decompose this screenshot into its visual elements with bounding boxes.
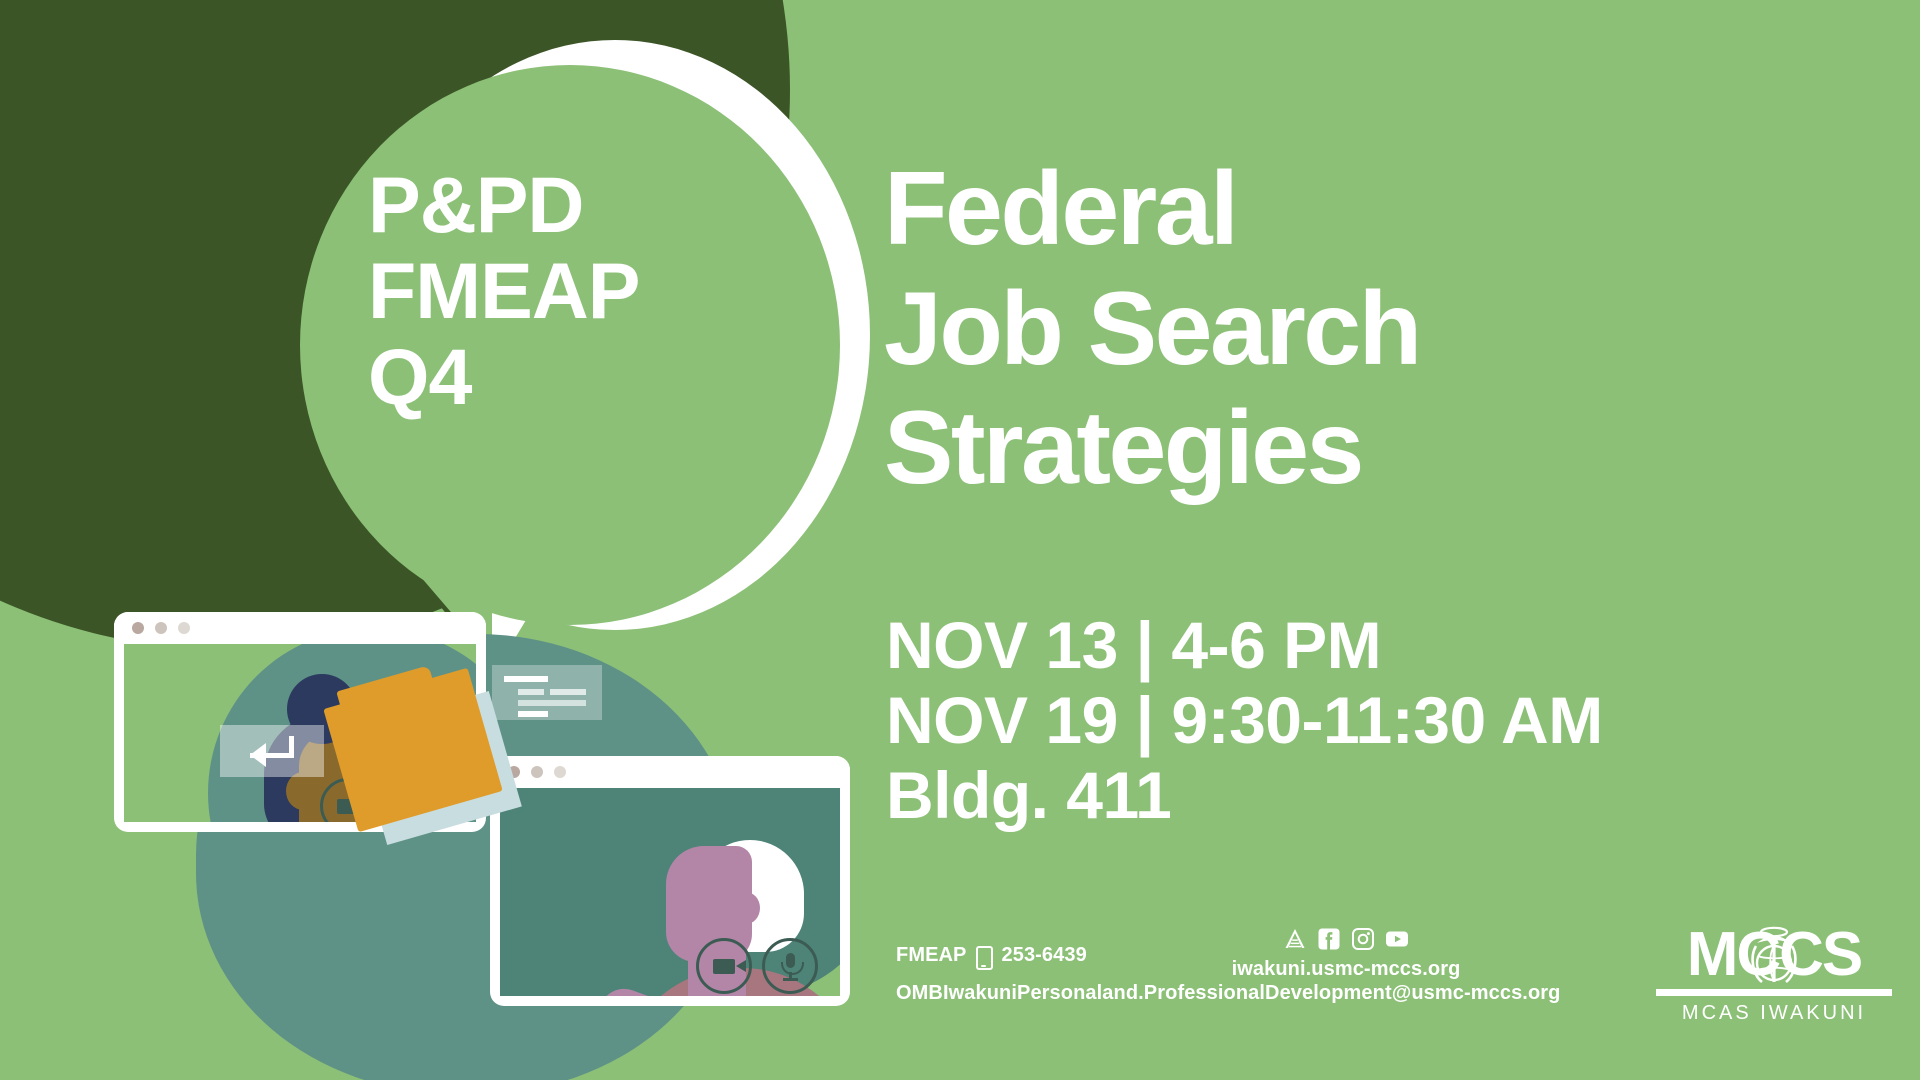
website-url[interactable]: iwakuni.usmc-mccs.org — [1166, 958, 1526, 981]
microphone-icon[interactable] — [762, 938, 818, 994]
page-title: Federal Job Search Strategies — [884, 150, 1884, 509]
badge-line-3: Q4 — [368, 334, 788, 420]
social-icon-row — [1166, 924, 1526, 954]
window-close-dot[interactable] — [132, 622, 144, 634]
event-details: NOV 13 | 4-6 PM NOV 19 | 9:30-11:30 AM B… — [886, 608, 1896, 834]
chat-message-card — [492, 665, 602, 720]
triangle-app-icon[interactable] — [1283, 927, 1307, 951]
location-line: Bldg. 411 — [886, 758, 1896, 833]
mccs-logo: MCCS MCAS IWAKUNI — [1656, 924, 1892, 1025]
promotional-flyer: P&PD FMEAP Q4 — [0, 0, 1920, 1080]
eagle-globe-anchor-icon — [1738, 922, 1810, 988]
web-block: iwakuni.usmc-mccs.org — [1166, 924, 1526, 981]
facebook-icon[interactable] — [1317, 927, 1341, 951]
window-minimize-dot[interactable] — [531, 766, 543, 778]
session-2-line: NOV 19 | 9:30-11:30 AM — [886, 683, 1896, 758]
participant-a-ear — [286, 772, 320, 810]
enter-arrow-glyph — [250, 736, 294, 766]
instagram-icon[interactable] — [1351, 927, 1375, 951]
program-label: FMEAP — [896, 936, 967, 974]
mobile-phone-icon — [976, 946, 993, 970]
youtube-icon[interactable] — [1385, 927, 1409, 951]
headline-line-3: Strategies — [884, 389, 1884, 509]
phone-number[interactable]: 253-6439 — [1002, 936, 1087, 974]
enter-key-icon[interactable] — [220, 725, 324, 777]
window-maximize-dot[interactable] — [554, 766, 566, 778]
session-1-line: NOV 13 | 4-6 PM — [886, 608, 1896, 683]
footer: FMEAP 253-6439 OMBIwakuniPersonaland.Pro… — [884, 918, 1920, 1048]
headline-line-1: Federal — [884, 150, 1884, 270]
window-titlebar-primary — [114, 612, 486, 644]
window-minimize-dot[interactable] — [155, 622, 167, 634]
video-conference-illustration — [0, 560, 880, 1080]
camera-glyph — [713, 959, 735, 974]
window-body-secondary — [500, 788, 840, 996]
headline-line-2: Job Search — [884, 270, 1884, 390]
participant-b-ear — [732, 892, 760, 924]
mccs-logo-subtitle: MCAS IWAKUNI — [1656, 1002, 1892, 1025]
microphone-glyph — [779, 953, 801, 979]
program-badge: P&PD FMEAP Q4 — [368, 162, 788, 420]
content-column: Federal Job Search Strategies NOV 13 | 4… — [884, 0, 1920, 1080]
mccs-logo-rule — [1656, 989, 1892, 996]
badge-line-2: FMEAP — [368, 248, 788, 334]
mccs-wordmark: MCCS — [1656, 924, 1892, 986]
window-titlebar-secondary — [490, 756, 850, 788]
camera-icon[interactable] — [696, 938, 752, 994]
window-maximize-dot[interactable] — [178, 622, 190, 634]
badge-line-1: P&PD — [368, 162, 788, 248]
video-call-window-secondary — [490, 756, 850, 1006]
